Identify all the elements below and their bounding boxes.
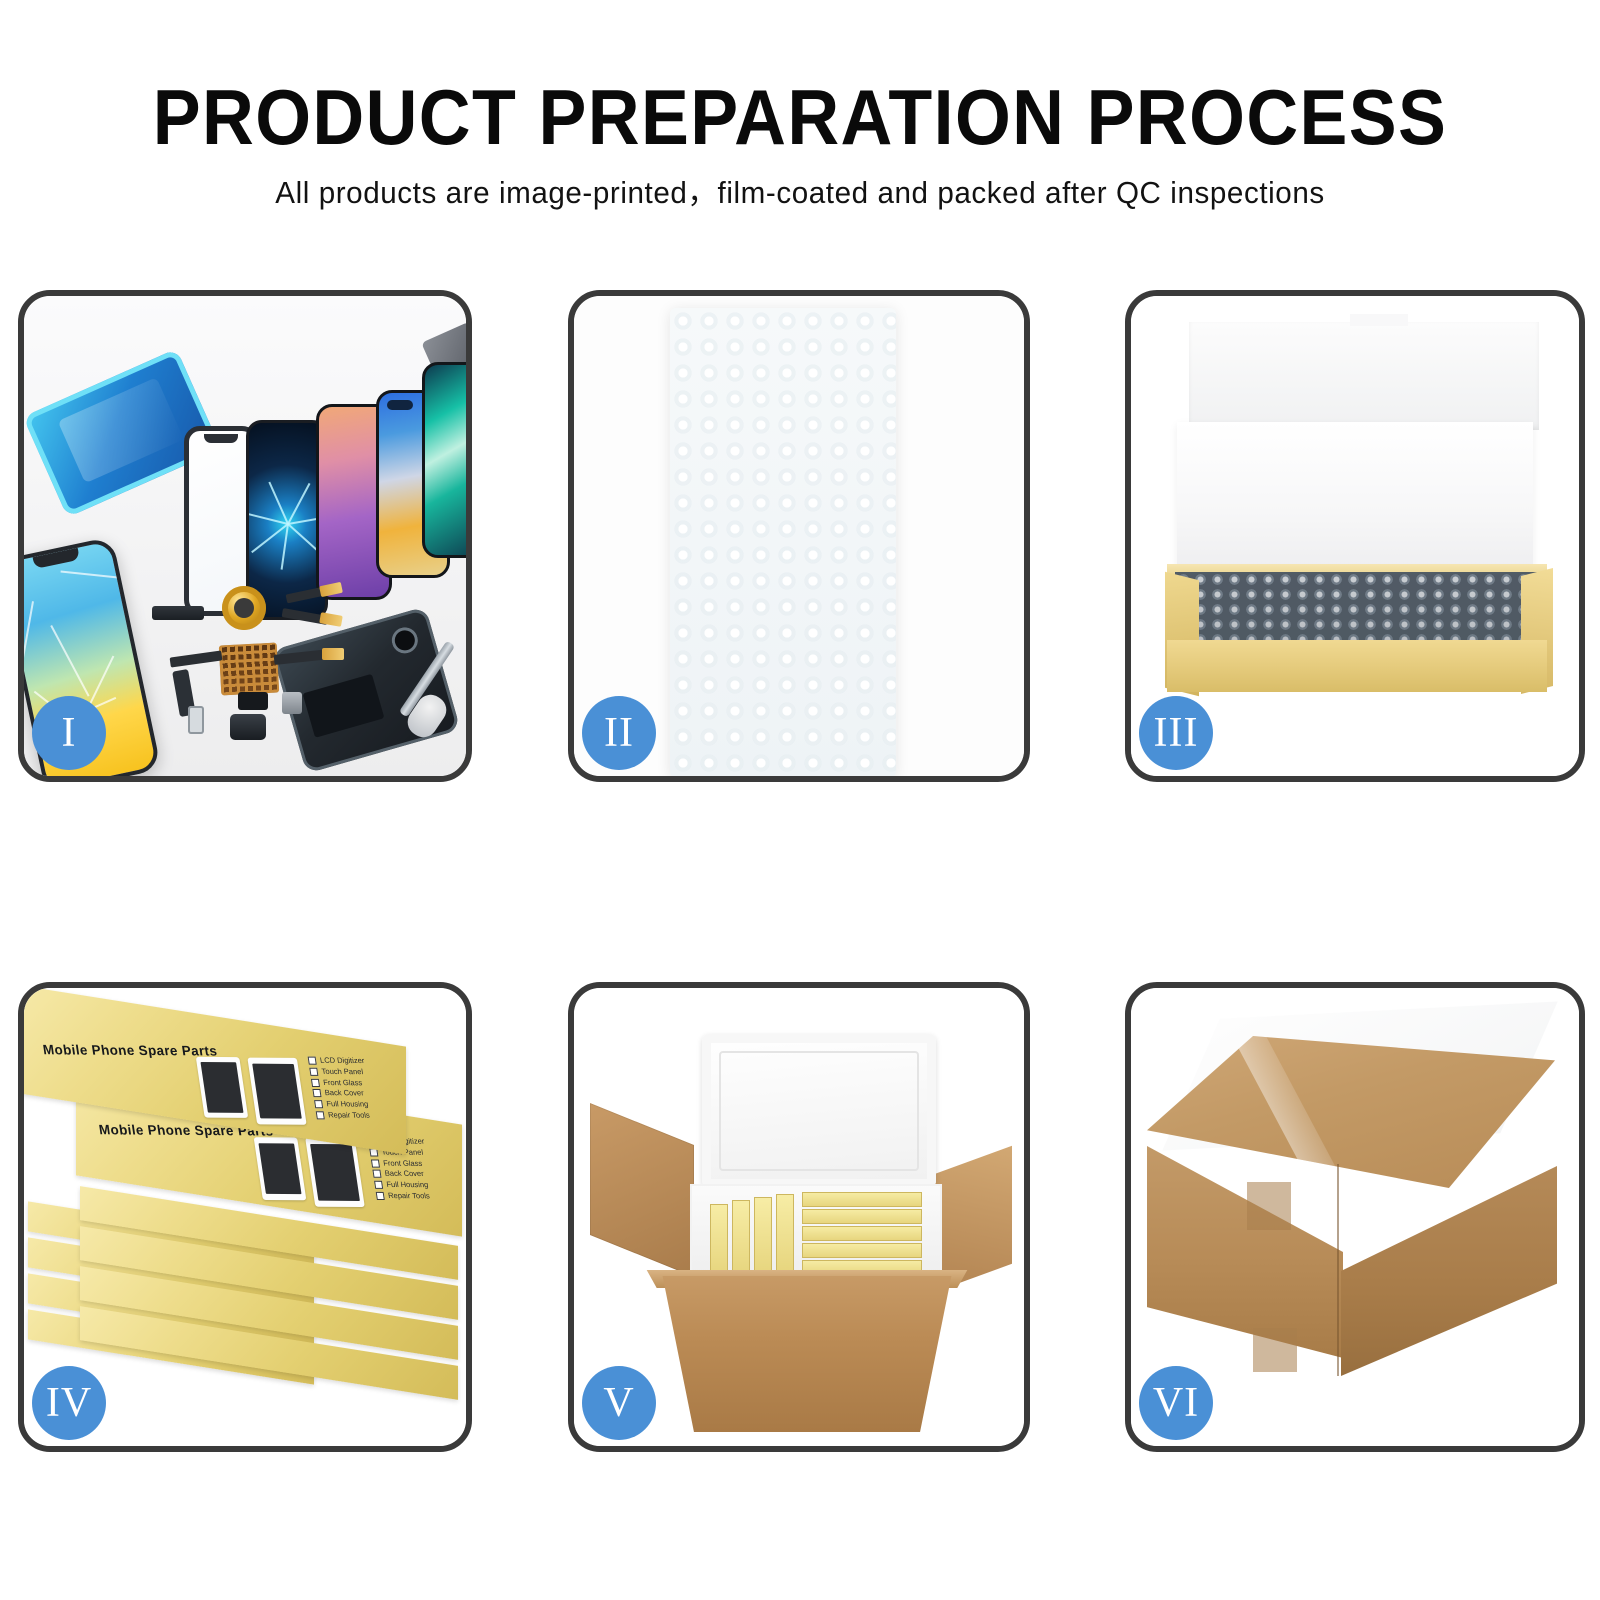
retail-box-brand-label-back: Mobile Phone Spare Parts bbox=[42, 1042, 218, 1058]
checklist-item: Front Glass bbox=[311, 1077, 369, 1088]
step-badge-3: III bbox=[1139, 696, 1213, 770]
flex-cable-gold-3 bbox=[322, 648, 344, 660]
step-panel-1: I bbox=[18, 290, 472, 782]
packed-retail-boxes bbox=[710, 1192, 926, 1278]
step-panel-3: III bbox=[1125, 290, 1585, 782]
step-badge-5: V bbox=[582, 1366, 656, 1440]
step-badge-1: I bbox=[32, 696, 106, 770]
checklist-item: Repair Tools bbox=[376, 1191, 434, 1202]
checklist-item: LCD Digitizer bbox=[307, 1056, 365, 1067]
retail-box-checklist-back: LCD Digitizer Touch Panel Front Glass Ba… bbox=[307, 1056, 373, 1122]
step-badge-4: IV bbox=[32, 1366, 106, 1440]
checklist-item: Touch Panel bbox=[309, 1066, 367, 1077]
step-panel-4: Mobile Phone Spare Parts LCD Digitizer T… bbox=[18, 982, 472, 1452]
step-badge-2: II bbox=[582, 696, 656, 770]
checklist-item: Full Housing bbox=[374, 1180, 432, 1191]
page-header: PRODUCT PREPARATION PROCESS All products… bbox=[0, 0, 1600, 250]
step-panel-5: V bbox=[568, 982, 1030, 1452]
speaker-mesh bbox=[152, 606, 204, 620]
retail-box-phone-image-back-b bbox=[247, 1058, 306, 1125]
ic-chip-array bbox=[219, 643, 280, 696]
checklist-item: Back Cover bbox=[372, 1169, 430, 1180]
inner-box-lid-front bbox=[1177, 422, 1533, 586]
bubble-wrap-bag bbox=[670, 308, 896, 776]
checklist-item: Back Cover bbox=[312, 1088, 370, 1099]
carton-edge-seam bbox=[1337, 1164, 1339, 1376]
green-wave-phone bbox=[422, 362, 466, 558]
step-badge-6: VI bbox=[1139, 1366, 1213, 1440]
carton-tape-tab-upper bbox=[1247, 1182, 1291, 1230]
carton-tape-tab-lower bbox=[1253, 1328, 1297, 1372]
page-title: PRODUCT PREPARATION PROCESS bbox=[64, 78, 1536, 156]
page-subtitle: All products are image-printed，film-coat… bbox=[24, 168, 1576, 212]
carton-body bbox=[650, 1276, 964, 1432]
bubble-wrap-contents bbox=[1175, 572, 1537, 642]
inner-box-lid-back bbox=[1189, 322, 1539, 430]
vibration-motor bbox=[282, 692, 302, 714]
step-panel-2: II bbox=[568, 290, 1030, 782]
step-panel-6: VI bbox=[1125, 982, 1585, 1452]
retail-box-phone-image-back-a bbox=[196, 1057, 248, 1118]
wireless-charging-coil bbox=[222, 586, 266, 630]
retail-box-phone-image-front-a bbox=[254, 1137, 307, 1200]
checklist-item: Full Housing bbox=[314, 1099, 372, 1110]
loudspeaker bbox=[230, 714, 266, 740]
camera-module bbox=[238, 692, 268, 710]
inner-box-front-face bbox=[1167, 640, 1547, 692]
retail-box-phone-image-front-b bbox=[305, 1138, 365, 1207]
checklist-item: Front Glass bbox=[371, 1158, 429, 1169]
checklist-item: Repair Tools bbox=[316, 1110, 374, 1121]
styrofoam-lid bbox=[702, 1034, 936, 1188]
sim-tray bbox=[188, 706, 204, 734]
